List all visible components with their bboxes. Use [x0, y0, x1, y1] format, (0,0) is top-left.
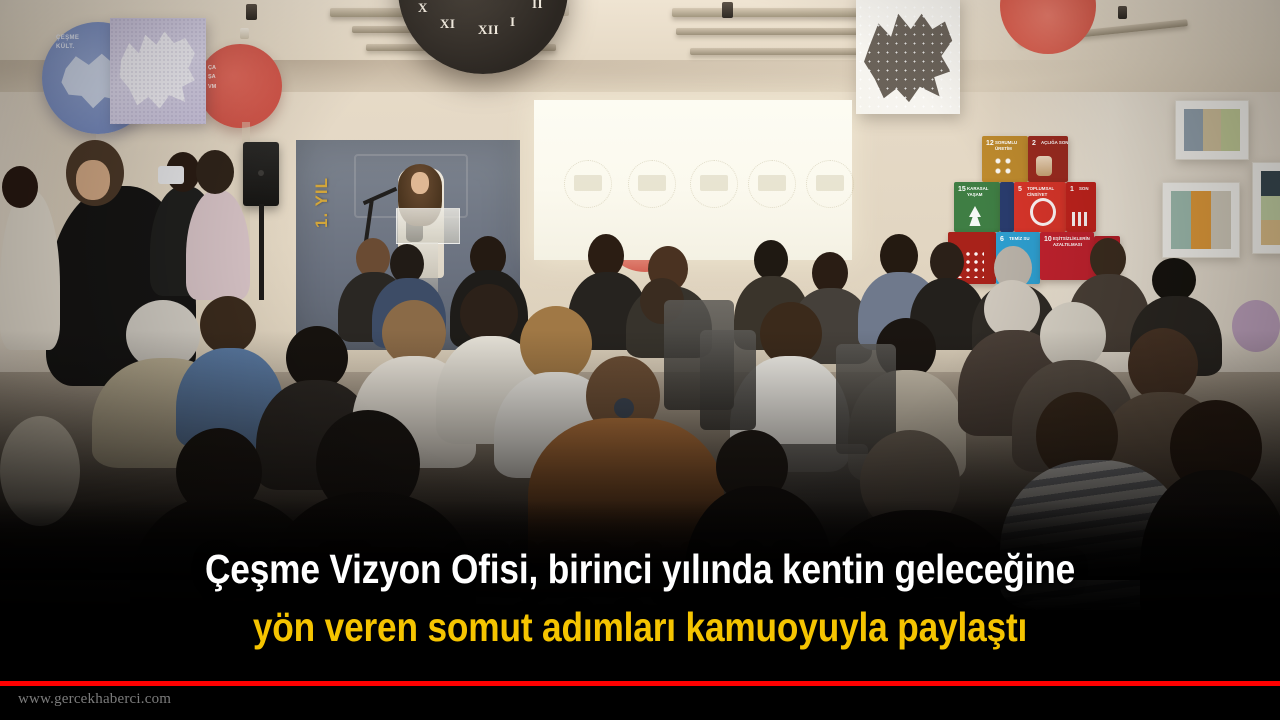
vest-collar-button: [614, 398, 634, 418]
camera-phone: [158, 166, 184, 184]
screenshot-root: XII I II XI X ÇEŞMEKÜLT. ÇAŞAVM VİZYON 1…: [0, 0, 1280, 720]
person-head: [930, 242, 964, 282]
ceiling-spotlight: [246, 4, 257, 20]
standing-person: [186, 190, 250, 300]
person-head: [196, 150, 234, 194]
headline-line-1: Çeşme Vizyon Ofisi, birinci yılında kent…: [90, 546, 1191, 593]
artwork-caption: ÇEŞMEKÜLT.: [56, 34, 79, 52]
acrylic-podium: [396, 208, 460, 244]
artwork-caption: ÇAŞAVM: [208, 64, 216, 92]
framed-artwork: [1252, 162, 1280, 254]
person-head: [2, 166, 38, 208]
site-watermark-url: www.gercekhaberci.com: [18, 691, 171, 708]
sdg-box: [1000, 182, 1014, 232]
sdg-box: 5TOPLUMSAL CİNSİYET: [1014, 182, 1066, 232]
person-head: [520, 306, 592, 382]
ceiling-spotlight: [722, 2, 733, 18]
sdg-box: 12SORUMLU ÜRETİM: [982, 136, 1028, 182]
person-head: [754, 240, 788, 280]
circular-artwork-red: ÇAŞAVM: [198, 44, 282, 128]
framed-artwork: [1175, 100, 1249, 160]
person-head: [200, 296, 256, 354]
sdg-box: 10EŞİTSİZLİKLERİN AZALTILMASI: [1040, 232, 1094, 280]
speaker-face: [411, 172, 429, 194]
person-head: [460, 284, 518, 344]
map-artwork-panel-right: [856, 0, 960, 114]
loudspeaker: [243, 142, 279, 206]
sdg-box: 15KARASAL YAŞAM: [954, 182, 1000, 232]
sdg-box: 2AÇLIĞA SON: [1028, 136, 1068, 182]
person-head: [1232, 300, 1280, 352]
headline-line-2: yön veren somut adımları kamuoyuyla payl…: [90, 604, 1191, 651]
ceiling-spotlight: [240, 28, 249, 39]
red-divider: [0, 681, 1280, 686]
loudspeaker-stand: [259, 204, 264, 300]
map-artwork-panel-left: [110, 18, 206, 124]
ceiling-spotlight: [1118, 6, 1127, 19]
framed-artwork: [1162, 182, 1240, 258]
person-head: [1128, 328, 1198, 402]
sdg-box: 1SON: [1066, 182, 1096, 232]
chair: [700, 330, 756, 430]
projection-screen: [534, 100, 852, 260]
backdrop-anniversary-text: 1. YIL: [312, 177, 332, 228]
person-face: [76, 160, 110, 200]
